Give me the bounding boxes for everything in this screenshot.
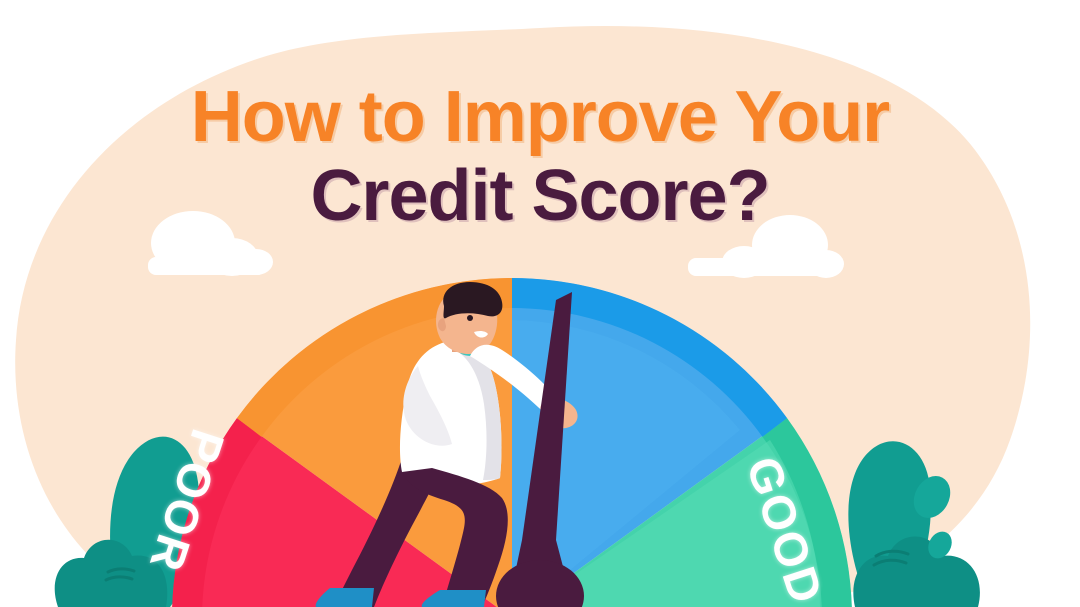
illustration-artwork [0, 0, 1080, 607]
eye [467, 315, 473, 321]
infographic-canvas: How to Improve Your Credit Score? POOR G… [0, 0, 1080, 607]
